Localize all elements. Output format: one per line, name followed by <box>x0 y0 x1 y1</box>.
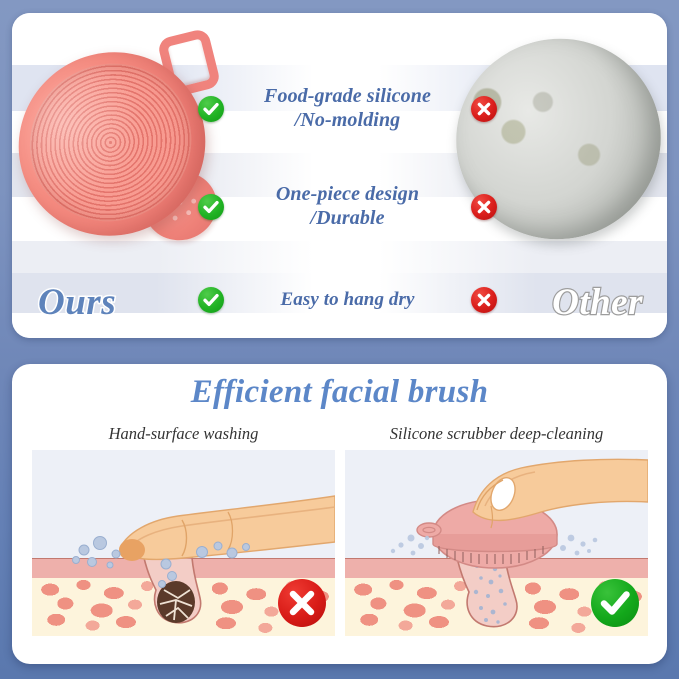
comparison-card: Food-grade silicone /No-molding One-piec… <box>12 13 667 338</box>
illustration-panel-hand: Hand-surface washing <box>32 450 335 636</box>
cross-icon <box>471 287 497 313</box>
feature-text: Food-grade silicone /No-molding <box>224 85 471 132</box>
feature-text: Easy to hang dry <box>224 289 471 311</box>
feature-list: Food-grade silicone /No-molding One-piec… <box>198 13 497 338</box>
ours-label: Ours <box>38 281 116 324</box>
other-label: Other <box>552 281 643 324</box>
feature-text: One-piece design /Durable <box>224 183 471 230</box>
illustration-panel-scrubber: Silicone scrubber deep-cleaning <box>345 450 648 636</box>
check-icon <box>591 579 639 627</box>
panel-caption: Hand-surface washing <box>32 424 335 444</box>
check-icon <box>198 96 224 122</box>
feature-row: One-piece design /Durable <box>198 183 497 230</box>
facial-title: Efficient facial brush <box>12 374 667 411</box>
feature-row: Food-grade silicone /No-molding <box>198 85 497 132</box>
facial-brush-card: Efficient facial brush Hand-surface wash… <box>12 364 667 664</box>
check-icon <box>198 287 224 313</box>
feature-row: Easy to hang dry <box>198 287 497 313</box>
cross-icon <box>278 579 326 627</box>
panel-caption: Silicone scrubber deep-cleaning <box>345 424 648 444</box>
cross-icon <box>471 96 497 122</box>
cross-icon <box>471 194 497 220</box>
check-icon <box>198 194 224 220</box>
